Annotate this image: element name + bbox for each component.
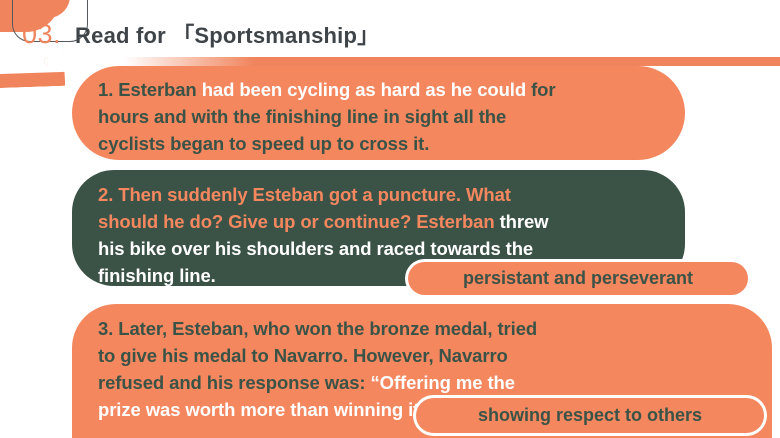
callout-pill-label: persistant and perseverant (463, 268, 693, 289)
callout-pill-respect[interactable]: showing respect to others (416, 398, 764, 433)
reading-text-run: 3. Later, Esteban, who won the bronze me… (98, 318, 537, 339)
slide-header: 03. Read for 「Sportsmanship」 (0, 18, 780, 60)
reading-line: to give his medal to Navarro. However, N… (98, 342, 746, 369)
reading-text-run: threw (500, 211, 549, 232)
reading-text-run: 1. Esterban (98, 79, 202, 100)
reading-text-run: hours and with the finishing line in sig… (98, 106, 506, 127)
reading-line: cyclists began to speed up to cross it. (98, 130, 659, 157)
reading-box-1: 1. Esterban had been cycling as hard as … (72, 66, 685, 160)
section-number: 03. (22, 19, 61, 50)
slide-canvas: 03. Read for 「Sportsmanship」 1. Esterban… (0, 0, 780, 438)
reading-text-run: 2. Then suddenly Esteban got a puncture.… (98, 184, 511, 205)
reading-text-run: finishing line. (98, 265, 216, 286)
reading-line: hours and with the finishing line in sig… (98, 103, 659, 130)
reading-text-run: refused and his response was: (98, 372, 371, 393)
reading-line: 1. Esterban had been cycling as hard as … (98, 76, 659, 103)
reading-text-run: to give his medal to Navarro. However, N… (98, 345, 508, 366)
reading-line: 3. Later, Esteban, who won the bronze me… (98, 315, 746, 342)
reading-line: refused and his response was: “Offering … (98, 369, 746, 396)
reading-line: his bike over his shoulders and raced to… (98, 235, 659, 262)
callout-pill-label: showing respect to others (478, 405, 702, 426)
reading-line: should he do? Give up or continue? Ester… (98, 208, 659, 235)
page-title: Read for 「Sportsmanship」 (75, 18, 379, 50)
callout-pill-persistance[interactable]: persistant and perseverant (408, 262, 748, 295)
reading-text-run: his bike over his shoulders and raced to… (98, 238, 533, 259)
reading-text-run: should he do? Give up or continue? Ester… (98, 211, 500, 232)
reading-line: 2. Then suddenly Esteban got a puncture.… (98, 181, 659, 208)
reading-text-run: had been cycling as hard as he could (202, 79, 531, 100)
reading-text-run: cyclists began to speed up to cross it. (98, 133, 429, 154)
reading-text-run: for (531, 79, 555, 100)
reading-text-run: “Offering me the (371, 372, 515, 393)
